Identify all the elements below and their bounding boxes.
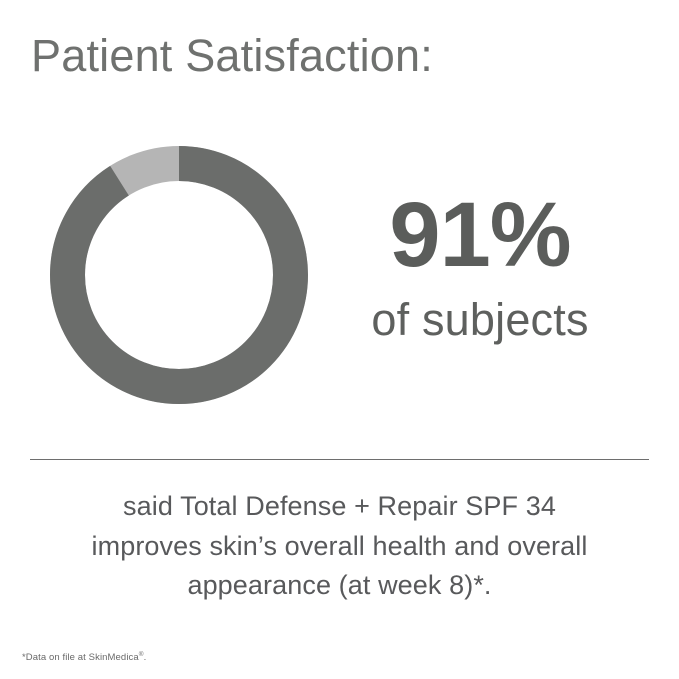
donut-chart-svg <box>50 146 308 404</box>
body-copy-line-1: said Total Defense + Repair SPF 34 <box>40 487 639 527</box>
donut-chart <box>50 146 308 404</box>
infographic-canvas: Patient Satisfaction: 91% of subjects sa… <box>0 0 679 679</box>
donut-slice-satisfied <box>68 164 291 387</box>
stat-value: 91% <box>330 188 630 283</box>
footnote-text: *Data on file at SkinMedica <box>22 652 139 663</box>
footnote: *Data on file at SkinMedica®. <box>22 652 146 663</box>
divider <box>30 459 649 460</box>
stat-caption: of subjects <box>330 295 630 345</box>
body-copy-line-2: improves skin’s overall health and overa… <box>40 527 639 567</box>
body-copy: said Total Defense + Repair SPF 34 impro… <box>40 487 639 606</box>
body-copy-line-3: appearance (at week 8)*. <box>40 566 639 606</box>
footnote-suffix: . <box>144 652 147 663</box>
page-title: Patient Satisfaction: <box>31 30 433 82</box>
stat-block: 91% of subjects <box>330 188 630 344</box>
